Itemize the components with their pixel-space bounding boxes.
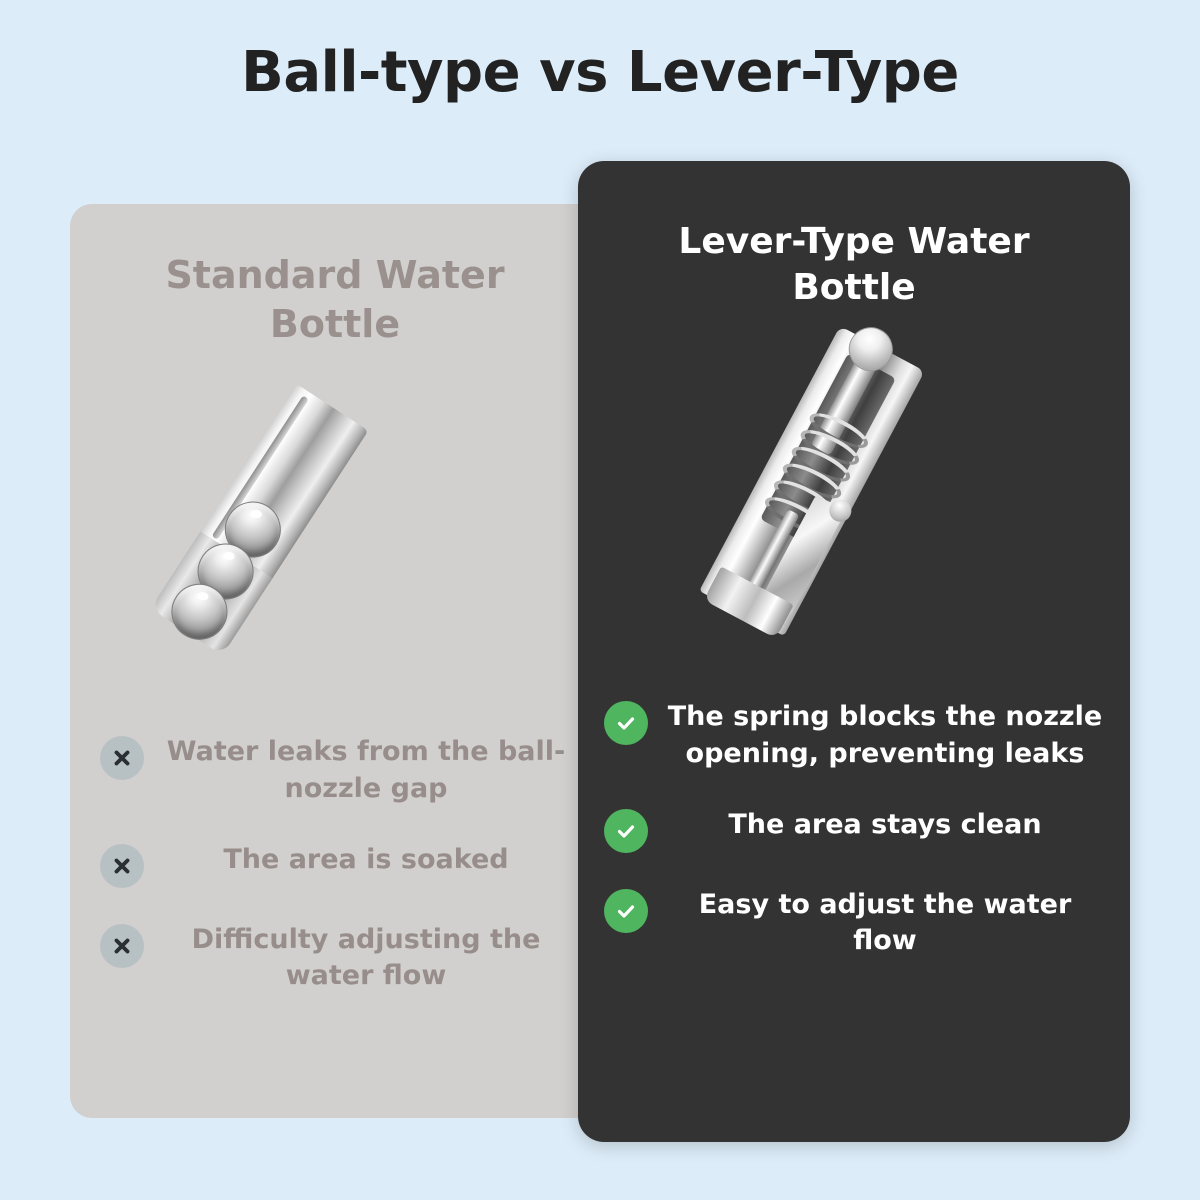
- check-icon: [604, 809, 648, 853]
- ball-type-nozzle-render: [154, 384, 369, 651]
- lever-product-image: [578, 317, 1130, 647]
- check-icon: [604, 701, 648, 745]
- lever-bottle-card: Lever-Type Water Bottle: [578, 161, 1130, 1142]
- list-item: Easy to adjust the water flow: [604, 887, 1104, 960]
- list-item-label: Water leaks from the ball-nozzle gap: [162, 734, 570, 807]
- list-item: Difficulty adjusting the water flow: [100, 922, 570, 995]
- list-item: The area is soaked: [100, 842, 570, 888]
- standard-card-heading: Standard Water Bottle: [130, 251, 540, 348]
- list-item: The spring blocks the nozzle opening, pr…: [604, 699, 1104, 772]
- list-item-label: Easy to adjust the water flow: [666, 887, 1104, 960]
- list-item-label: The spring blocks the nozzle opening, pr…: [666, 699, 1104, 772]
- lever-card-heading: Lever-Type Water Bottle: [652, 219, 1056, 311]
- standard-bottle-card: Standard Water Bottle Water leaks from t…: [70, 204, 600, 1118]
- list-item-label: The area is soaked: [162, 842, 570, 879]
- lever-bullet-list: The spring blocks the nozzle opening, pr…: [578, 695, 1130, 960]
- check-icon: [604, 889, 648, 933]
- list-item-label: Difficulty adjusting the water flow: [162, 922, 570, 995]
- cross-icon: [100, 924, 144, 968]
- page-title: Ball-type vs Lever-Type: [0, 40, 1200, 105]
- list-item: The area stays clean: [604, 807, 1104, 853]
- list-item: Water leaks from the ball-nozzle gap: [100, 734, 570, 807]
- comparison-infographic: Ball-type vs Lever-Type Standard Water B…: [0, 0, 1200, 1200]
- standard-product-image: [70, 358, 600, 688]
- list-item-label: The area stays clean: [666, 807, 1104, 844]
- lever-type-nozzle-render: [699, 326, 925, 636]
- standard-bullet-list: Water leaks from the ball-nozzle gap The…: [70, 728, 600, 995]
- cross-icon: [100, 736, 144, 780]
- cross-icon: [100, 844, 144, 888]
